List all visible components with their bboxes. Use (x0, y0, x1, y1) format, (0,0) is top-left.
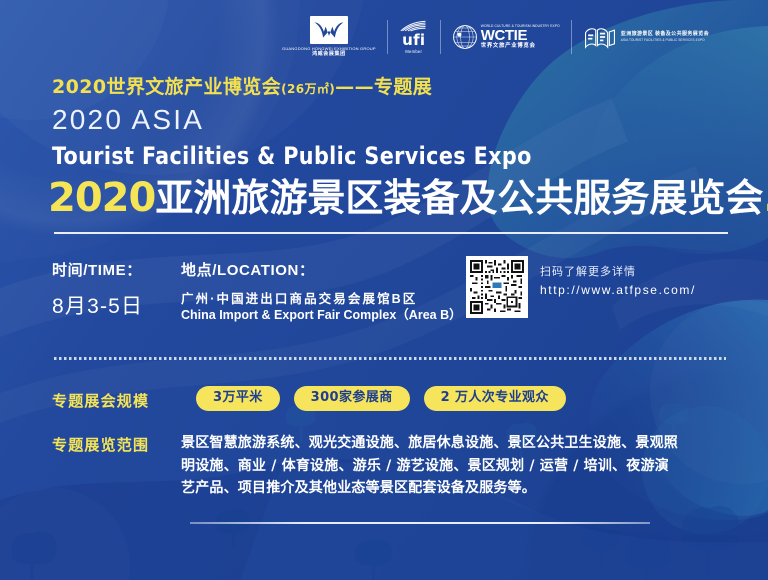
wctie-name-cn: 世界文旅产业博览会 (481, 44, 560, 49)
title-chinese-text: 亚洲旅游景区装备及公共服务展览会 (155, 176, 763, 220)
title-asia: 2020 ASIA (52, 104, 204, 136)
sponsor-logo-bar: GUANGDONG HONGWEI EXHIBITION GROUP 鸿威会展集… (271, 15, 720, 59)
time-value: 8月3-5日 (52, 290, 143, 320)
title-chinese-main: 2020亚洲旅游景区装备及公共服务展览会. (48, 178, 768, 218)
atfpse-logo: 亚洲旅游景区 装备及公共服务展览会 ASIA TOURIST FACILITIE… (572, 15, 720, 59)
time-label: 时间/TIME： (52, 259, 142, 280)
title-period: . (763, 176, 768, 220)
scope-text: 景区智慧旅游系统、观光交通设施、旅居休息设施、景区公共卫生设施、景观照明设施、商… (181, 432, 679, 500)
kicker-suffix: ——专题展 (335, 76, 432, 98)
divider-dotted (54, 357, 726, 360)
atfpse-name-en: ASIA TOURIST FACILITIES & PUBLIC SERVICE… (621, 38, 709, 42)
scale-pill-exhibitors: 300家参展商 (294, 386, 410, 411)
scale-label: 专题展会规模 (52, 390, 149, 411)
ufi-wordmark: ufi (402, 33, 425, 48)
hongwei-caption-cn: 鸿威会展集团 (312, 51, 346, 57)
globe-icon (452, 24, 478, 50)
qr-url[interactable]: http://www.atfpse.com/ (540, 283, 696, 297)
atfpse-mark-icon (583, 25, 617, 49)
scope-label: 专题展览范围 (52, 434, 149, 455)
ufi-member-label: Member (405, 49, 422, 54)
wctie-logo: WORLD CULTURE & TOURISM INDUSTRY EXPO WC… (441, 15, 571, 59)
location-value-en: China Import & Export Fair Complex（Area … (181, 304, 462, 323)
hongwei-exhibition-group-logo: GUANGDONG HONGWEI EXHIBITION GROUP 鸿威会展集… (271, 15, 387, 59)
qr-code[interactable] (466, 256, 528, 318)
wctie-wordmark: WCTIE (481, 28, 560, 43)
scale-pill-visitors: 2 万人次专业观众 (424, 386, 566, 411)
scale-pill-group: 3万平米 300家参展商 2 万人次专业观众 (196, 386, 566, 411)
expo-poster: GUANGDONG HONGWEI EXHIBITION GROUP 鸿威会展集… (0, 0, 768, 580)
w-wings-icon (310, 16, 348, 44)
scale-pill-area: 3万平米 (196, 386, 280, 411)
location-label: 地点/LOCATION： (181, 259, 315, 280)
atfpse-name-cn: 亚洲旅游景区 装备及公共服务展览会 (621, 31, 709, 38)
kicker-line: 2020世界文旅产业博览会(26万㎡)——专题展 (52, 72, 432, 99)
poster-content: 2020世界文旅产业博览会(26万㎡)——专题展 2020 ASIA Touri… (0, 0, 768, 580)
kicker-prefix: 2020世界文旅产业博览会 (52, 76, 281, 98)
qr-code-icon (470, 260, 524, 314)
title-english: Tourist Facilities & Public Services Exp… (52, 142, 532, 170)
divider-bottom (190, 522, 650, 524)
title-year: 2020 (48, 175, 155, 221)
ufi-member-logo: ufi Member (388, 15, 440, 59)
kicker-area: (26万㎡) (281, 82, 335, 96)
divider-solid (54, 232, 728, 234)
qr-caption: 扫码了解更多详情 (540, 263, 636, 279)
